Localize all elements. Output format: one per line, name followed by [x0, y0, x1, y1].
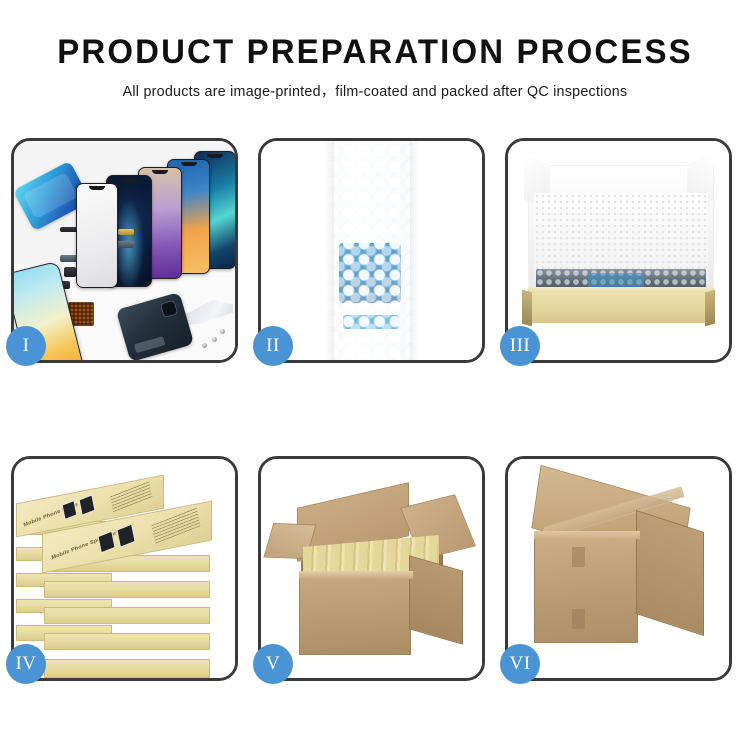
step-badge-4: IV — [6, 644, 46, 684]
carton-seam-lower — [572, 609, 585, 629]
process-steps-grid: I II — [11, 138, 739, 681]
notch-icon — [207, 154, 223, 158]
step-4-image: Mobile Phone Spare Parts Mobile Phone Sp… — [14, 459, 235, 678]
step-badge-3: III — [500, 326, 540, 366]
stacked-box — [44, 607, 210, 624]
box-thumbnail-icon — [79, 494, 96, 515]
stacked-box — [44, 659, 210, 678]
screw-icon — [220, 329, 225, 334]
carton-top-edge — [534, 531, 640, 539]
stacked-box — [44, 633, 210, 650]
step-badge-2: II — [253, 326, 293, 366]
sleeve-edge-left — [325, 141, 334, 360]
step-panel-6: VI — [505, 456, 732, 681]
page-title: PRODUCT PREPARATION PROCESS — [11, 34, 739, 71]
notch-icon — [152, 170, 168, 174]
gold-connector-icon — [118, 229, 134, 235]
step-panel-3: III — [505, 138, 732, 363]
step-3-image — [508, 141, 729, 360]
step-badge-5: V — [253, 644, 293, 684]
step-panel-1: I — [11, 138, 238, 363]
notch-icon — [181, 162, 197, 166]
bubble-texture — [325, 143, 419, 360]
step-5-image — [261, 459, 482, 678]
carton-right-face — [636, 510, 704, 636]
foam-lining — [534, 193, 708, 281]
step-panel-5: V — [258, 456, 485, 681]
carton-right-face — [409, 555, 463, 644]
step-6-image — [508, 459, 729, 678]
notch-icon — [121, 178, 137, 182]
carton-seam-upper — [572, 547, 585, 567]
box-front-panel — [528, 293, 714, 323]
notch-icon — [89, 186, 105, 190]
phone-screen-glass — [76, 183, 118, 288]
box-side-left — [522, 290, 532, 327]
box-thumbnail-icon — [97, 531, 115, 554]
sealed-carton-scene — [508, 459, 729, 678]
step-panel-4: Mobile Phone Spare Parts Mobile Phone Sp… — [11, 456, 238, 681]
carton-top-rim — [299, 571, 413, 579]
screw-icon — [202, 343, 207, 348]
page-subtitle: All products are image-printed，film-coat… — [0, 80, 750, 101]
box-side-right — [705, 290, 715, 327]
carton-front-face — [534, 537, 638, 643]
step-badge-1: I — [6, 326, 46, 366]
small-part-icon — [64, 267, 76, 277]
step-badge-6: VI — [500, 644, 540, 684]
step-1-image — [14, 141, 235, 360]
stacked-box — [44, 581, 210, 598]
box-spec-lines — [152, 507, 201, 543]
step-panel-2: II — [258, 138, 485, 363]
phone-parts-scene — [14, 141, 235, 360]
step-2-image — [261, 141, 482, 360]
box-thumbnail-icon — [116, 524, 135, 548]
stacked-boxes-scene: Mobile Phone Spare Parts Mobile Phone Sp… — [14, 459, 235, 678]
box-spec-lines — [110, 480, 153, 512]
kraft-box-scene — [508, 141, 729, 360]
screw-icon — [212, 337, 217, 342]
box-thumbnail-icon — [62, 500, 78, 520]
bubble-wrap-scene — [261, 141, 482, 360]
carton-front-face — [299, 577, 411, 655]
sleeve-edge-right — [410, 141, 419, 360]
header: PRODUCT PREPARATION PROCESS All products… — [0, 34, 750, 101]
open-carton-scene — [261, 459, 482, 678]
product-preparation-infographic: PRODUCT PREPARATION PROCESS All products… — [0, 0, 750, 750]
